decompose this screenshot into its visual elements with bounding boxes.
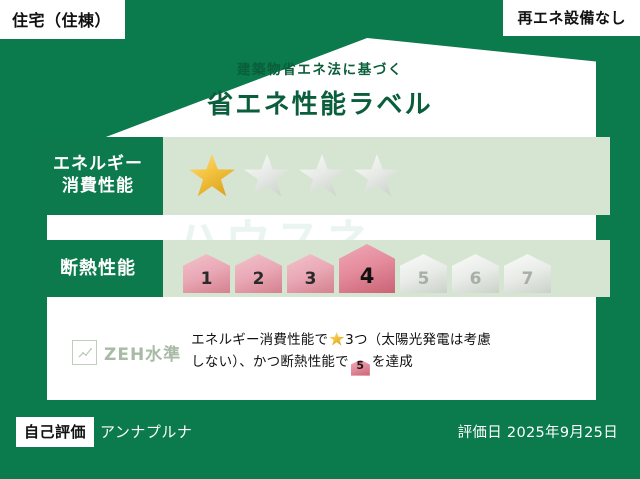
row-energy-body xyxy=(163,137,610,215)
insulation-level-scale: 1234567 xyxy=(163,244,551,293)
zeh-standard-indicator: ZEH水準 xyxy=(72,340,181,365)
insulation-level-badge-4: 4 xyxy=(339,244,395,293)
star-rating xyxy=(163,154,400,198)
insulation-level-badge-2: 2 xyxy=(235,254,282,293)
evaluation-date: 評価日 2025年9月25日 xyxy=(458,421,618,442)
self-evaluation-badge: 自己評価 xyxy=(16,417,94,447)
insulation-level-badge-5: 5 xyxy=(400,254,447,293)
title-subtitle: 建築物省エネ法に基づく xyxy=(0,58,640,78)
page-title: 省エネ性能ラベル xyxy=(0,84,640,121)
row-insulation-label-line1: 断熱性能 xyxy=(60,257,136,280)
row-energy-label-line2: 消費性能 xyxy=(62,176,134,198)
zeh-note: ZEH水準 エネルギー消費性能で3つ（太陽光発電は考慮しない）、かつ断熱性能で5… xyxy=(72,330,491,376)
footer: 自己評価 アンナプルナ 評価日 2025年9月25日 xyxy=(0,400,640,479)
tag-house-type: 住宅（住棟） xyxy=(0,0,125,39)
note-star-count: 3つ（太陽光発電 xyxy=(345,332,450,348)
insulation-level-badge-1: 1 xyxy=(183,254,230,293)
inline-level-badge: 5 xyxy=(351,360,370,376)
row-insulation-performance: 断熱性能 1234567 xyxy=(33,240,610,297)
inline-star-icon xyxy=(329,332,344,346)
energy-label-card: ハウスネ 住宅（住棟） 再エネ設備なし 建築物省エネ法に基づく 省エネ性能ラベル… xyxy=(0,0,640,479)
note-text-part3: を達成 xyxy=(372,354,413,370)
star-empty-icon xyxy=(299,154,345,198)
star-empty-icon xyxy=(244,154,290,198)
title-block: 建築物省エネ法に基づく 省エネ性能ラベル xyxy=(0,58,640,121)
zeh-checkbox-icon xyxy=(72,340,97,365)
row-insulation-body: 1234567 xyxy=(163,240,610,297)
tag-renewable-equipment: 再エネ設備なし xyxy=(503,0,640,36)
insulation-level-badge-3: 3 xyxy=(287,254,334,293)
footer-left: 自己評価 アンナプルナ xyxy=(16,417,192,447)
row-energy-performance: エネルギー 消費性能 xyxy=(33,137,610,215)
row-energy-label: エネルギー 消費性能 xyxy=(33,137,163,215)
row-insulation-label: 断熱性能 xyxy=(33,240,163,297)
owner-name: アンナプルナ xyxy=(100,421,192,442)
zeh-note-text: エネルギー消費性能で3つ（太陽光発電は考慮しない）、かつ断熱性能で5を達成 xyxy=(191,330,491,376)
star-filled-icon xyxy=(189,154,235,198)
note-text-part1: エネルギー消費性能で xyxy=(191,332,328,348)
zeh-label: ZEH水準 xyxy=(104,340,181,365)
row-energy-label-line1: エネルギー xyxy=(53,154,143,176)
insulation-level-badge-6: 6 xyxy=(452,254,499,293)
insulation-level-badge-7: 7 xyxy=(504,254,551,293)
star-empty-icon xyxy=(354,154,400,198)
